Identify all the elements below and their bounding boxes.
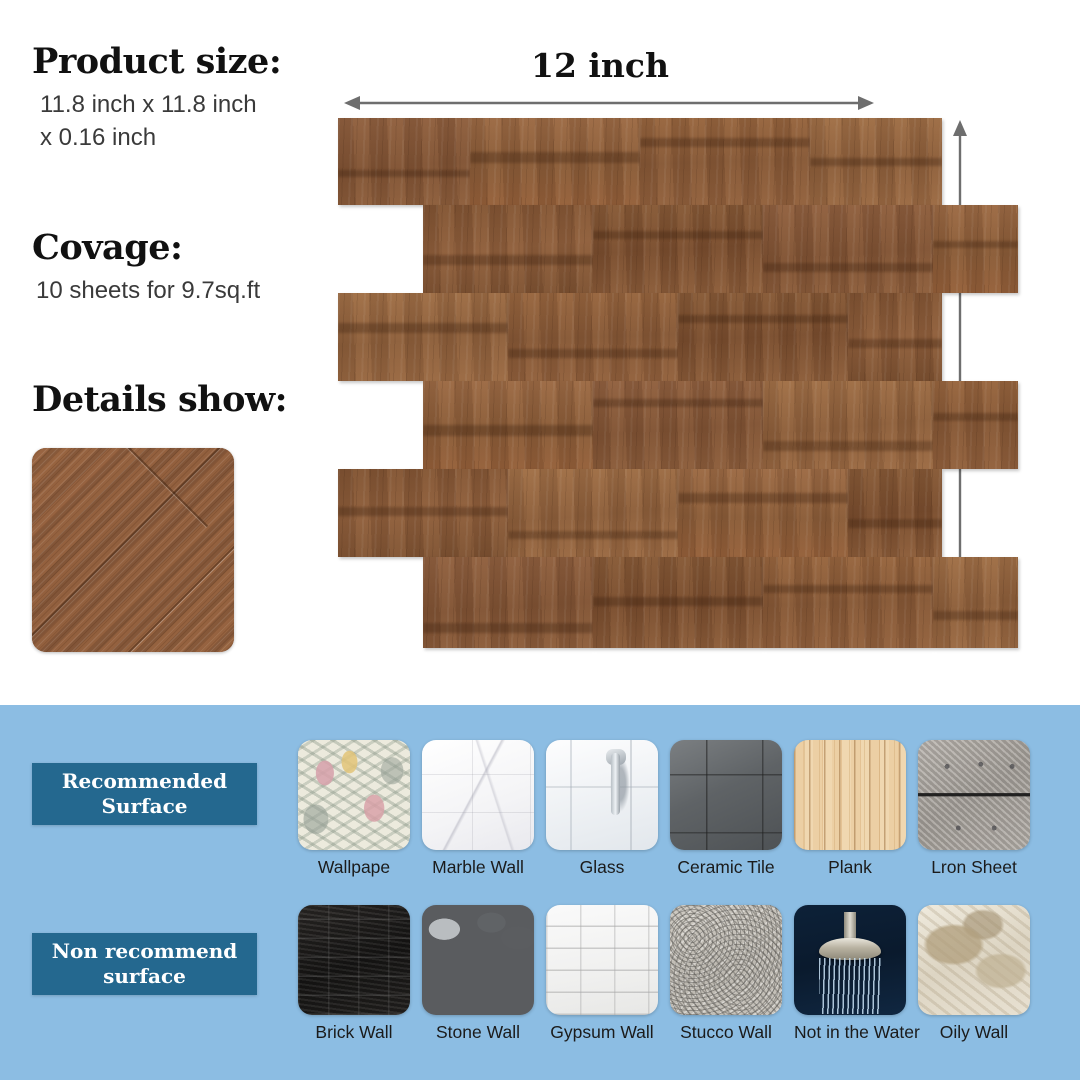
surface-label: Stucco Wall	[670, 1022, 782, 1043]
surface-label: Oily Wall	[918, 1022, 1030, 1043]
tile-plank	[763, 381, 933, 469]
stone-wall-swatch	[422, 905, 534, 1015]
wood-grain-closeup-swatch	[32, 448, 234, 652]
tile-plank	[593, 205, 763, 293]
surface-label: Wallpape	[298, 857, 410, 878]
tile-plank	[423, 381, 593, 469]
shower-head-icon	[819, 938, 881, 960]
tile-plank	[848, 293, 942, 381]
product-size-block: Product size: 11.8 inch x 11.8 inch x 0.…	[32, 42, 281, 154]
surface-item-ceramic-tile[interactable]: Ceramic Tile	[670, 740, 782, 878]
tile-plank	[338, 293, 508, 381]
surface-item-gypsum-wall[interactable]: Gypsum Wall	[546, 905, 658, 1043]
surface-label: Ceramic Tile	[670, 857, 782, 878]
tile-plank	[763, 557, 933, 648]
width-dimension-label: 12 inch	[330, 46, 870, 85]
tile-plank	[338, 118, 470, 205]
stucco-wall-swatch	[670, 905, 782, 1015]
gypsum-wall-swatch	[546, 905, 658, 1015]
tile-plank	[678, 469, 848, 557]
surface-item-marble-wall[interactable]: Marble Wall	[422, 740, 534, 878]
product-infographic: Product size: 11.8 inch x 11.8 inch x 0.…	[0, 0, 1080, 1080]
surface-item-plank[interactable]: Plank	[794, 740, 906, 878]
tile-plank	[508, 469, 678, 557]
oily-wall-swatch	[918, 905, 1030, 1015]
recommended-surface-badge: Recommended Surface	[32, 763, 257, 825]
tile-plank	[470, 118, 640, 205]
surface-label: Brick Wall	[298, 1022, 410, 1043]
tile-mosaic	[338, 118, 938, 648]
tile-plank	[593, 381, 763, 469]
coverage-block: Covage: 10 sheets for 9.7sq.ft	[32, 228, 260, 307]
tile-plank	[508, 293, 678, 381]
plank-swatch	[794, 740, 906, 850]
iron-sheet-swatch	[918, 740, 1030, 850]
surface-label: Plank	[794, 857, 906, 878]
surface-item-stone-wall[interactable]: Stone Wall	[422, 905, 534, 1043]
surface-item-oily-wall[interactable]: Oily Wall	[918, 905, 1030, 1043]
surface-label: Glass	[546, 857, 658, 878]
surface-item-iron-sheet[interactable]: Lron Sheet	[918, 740, 1030, 878]
surface-label: Stone Wall	[422, 1022, 534, 1043]
tile-plank	[933, 381, 1018, 469]
surface-label: Gypsum Wall	[546, 1022, 658, 1043]
surface-label: Lron Sheet	[918, 857, 1030, 878]
product-size-title: Product size:	[32, 42, 281, 82]
non-recommended-surface-row: Brick Wall Stone Wall Gypsum Wall Stucco…	[298, 905, 1058, 1060]
surface-label: Not in the Water	[794, 1022, 906, 1043]
surface-item-wallpaper[interactable]: Wallpape	[298, 740, 410, 878]
wood-grain-texture	[32, 448, 234, 652]
surface-item-stucco-wall[interactable]: Stucco Wall	[670, 905, 782, 1043]
surface-item-not-in-the-water[interactable]: Not in the Water	[794, 905, 906, 1043]
product-tile-figure: 12 inch 12 inch	[330, 40, 990, 670]
shower-hose-icon	[611, 753, 620, 815]
tile-plank	[423, 205, 593, 293]
water-spray-icon	[819, 958, 881, 1014]
surface-item-brick-wall[interactable]: Brick Wall	[298, 905, 410, 1043]
tile-plank	[423, 557, 593, 648]
recommended-surface-row: Wallpape Marble Wall Glass Ceramic Tile …	[298, 740, 1058, 895]
surface-label: Marble Wall	[422, 857, 534, 878]
tile-plank	[678, 293, 848, 381]
tile-plank	[593, 557, 763, 648]
product-size-value: 11.8 inch x 11.8 inch x 0.16 inch	[32, 88, 281, 154]
non-recommended-surface-badge: Non recommend surface	[32, 933, 257, 995]
glass-swatch	[546, 740, 658, 850]
surface-item-glass[interactable]: Glass	[546, 740, 658, 878]
tile-plank	[763, 205, 933, 293]
tile-plank	[848, 469, 942, 557]
info-column: Product size: 11.8 inch x 11.8 inch x 0.…	[0, 0, 330, 705]
ceramic-tile-swatch	[670, 740, 782, 850]
tile-plank	[338, 469, 508, 557]
brick-wall-swatch	[298, 905, 410, 1015]
tile-plank	[810, 118, 942, 205]
coverage-value: 10 sheets for 9.7sq.ft	[32, 275, 260, 307]
surface-recommendation-panel: Recommended Surface Non recommend surfac…	[0, 705, 1080, 1080]
wallpaper-swatch	[298, 740, 410, 850]
marble-wall-swatch	[422, 740, 534, 850]
tile-plank	[933, 205, 1018, 293]
shower-water-swatch	[794, 905, 906, 1015]
width-dimension-arrow	[344, 95, 874, 111]
details-title: Details show:	[32, 380, 287, 420]
details-block: Details show:	[32, 380, 287, 420]
tile-plank	[933, 557, 1018, 648]
tile-plank	[640, 118, 810, 205]
coverage-title: Covage:	[32, 228, 260, 268]
